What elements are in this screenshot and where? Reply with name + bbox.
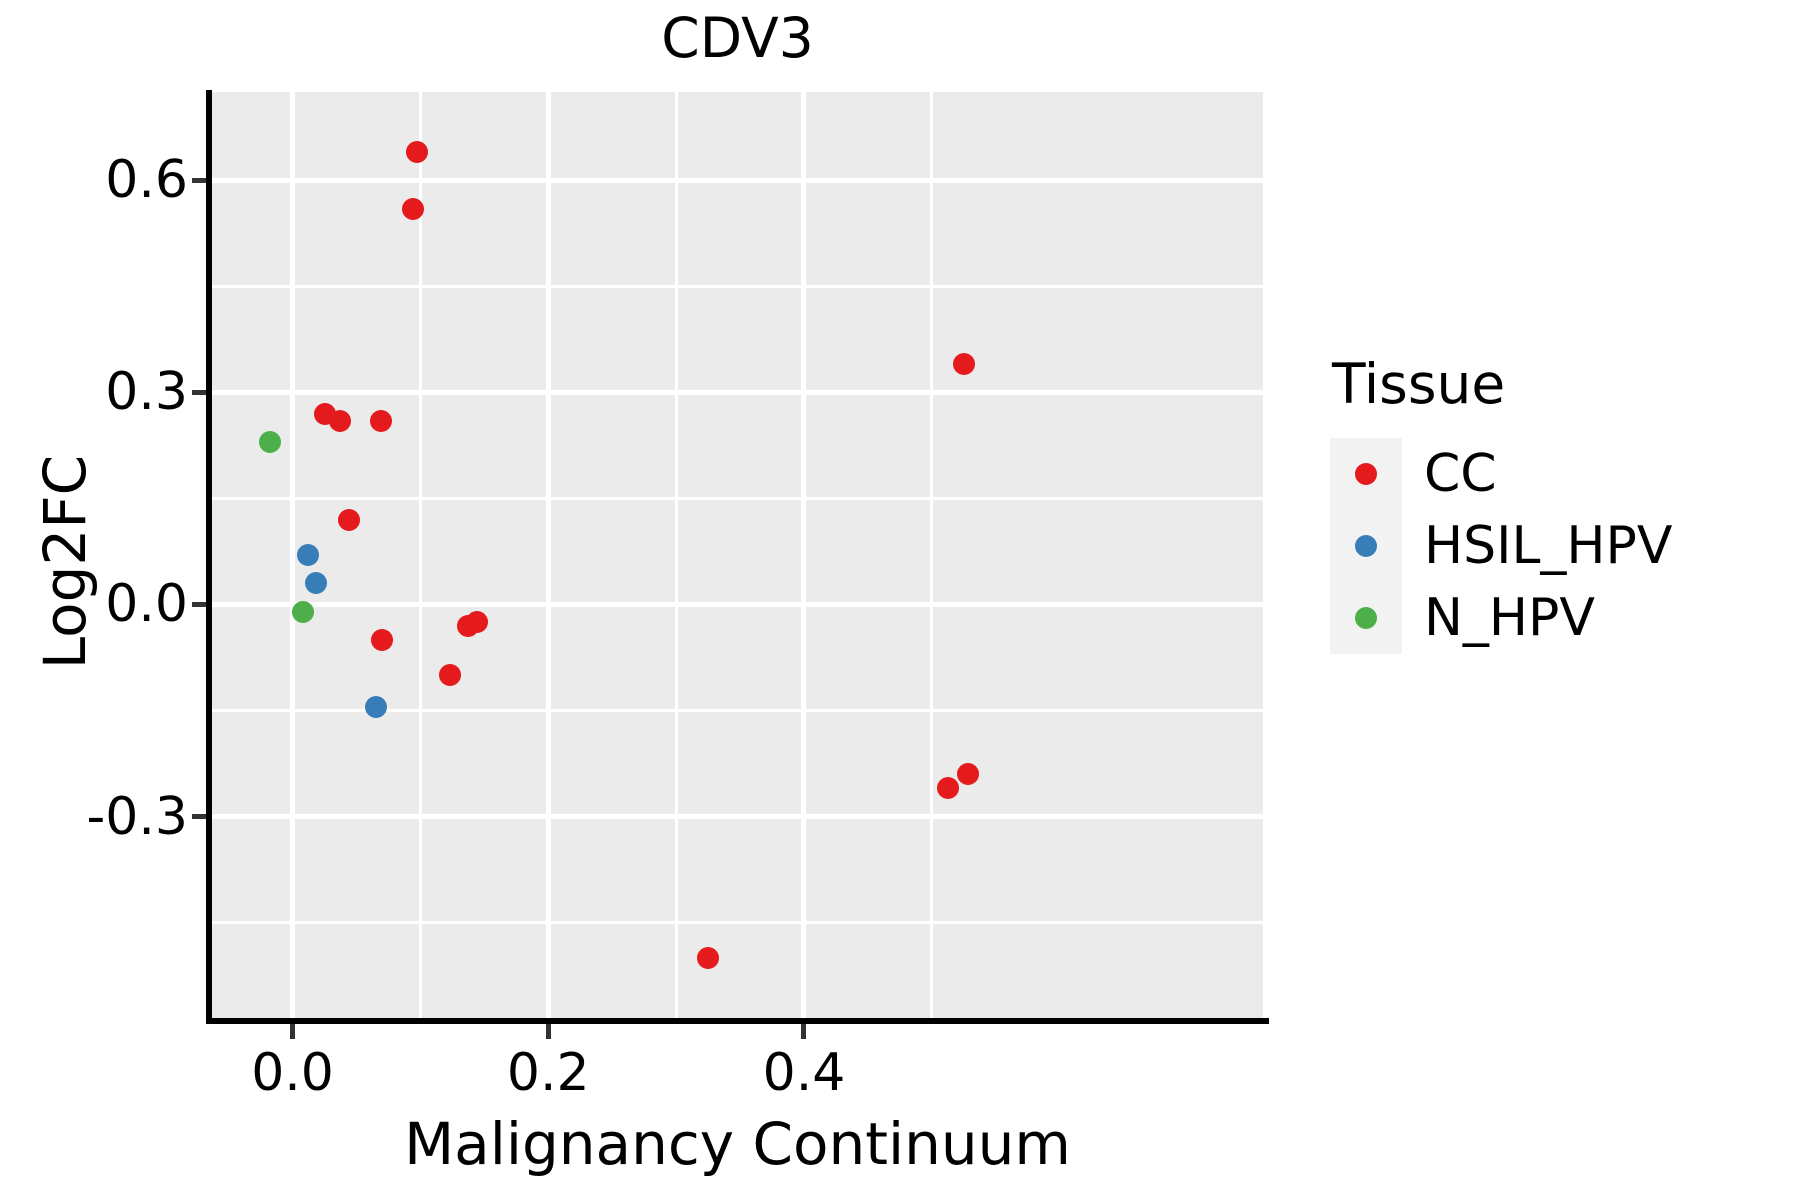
gridline-horizontal-minor: [212, 497, 1263, 500]
gridline-vertical-major: [546, 92, 551, 1018]
legend-title: Tissue: [1332, 352, 1672, 416]
data-point: [439, 664, 461, 686]
data-point: [697, 947, 719, 969]
data-point: [297, 544, 319, 566]
data-point: [338, 509, 360, 531]
data-point: [259, 431, 281, 453]
page-title: CDV3: [212, 6, 1263, 70]
data-point: [292, 601, 314, 623]
y-axis-line: [206, 90, 212, 1022]
legend-entries: CCHSIL_HPVN_HPV: [1330, 438, 1672, 654]
data-point: [466, 611, 488, 633]
data-point: [937, 777, 959, 799]
data-point: [957, 763, 979, 785]
legend-item-n-hpv[interactable]: N_HPV: [1330, 582, 1672, 654]
legend-dot-icon: [1355, 607, 1377, 629]
y-axis-tick: [192, 602, 206, 607]
scatter-plot-figure: CDV3 0.00.20.4-0.30.00.30.6 Malignancy C…: [0, 0, 1800, 1200]
plot-panel: [212, 92, 1263, 1018]
x-axis-tick: [546, 1024, 551, 1039]
gridline-horizontal-major: [212, 390, 1263, 395]
gridline-horizontal-minor: [212, 921, 1263, 924]
data-point: [329, 410, 351, 432]
legend-dot-icon: [1355, 463, 1377, 485]
gridline-vertical-major: [801, 92, 806, 1018]
x-axis-tick: [290, 1024, 295, 1039]
legend-item-cc[interactable]: CC: [1330, 438, 1672, 510]
data-point: [402, 198, 424, 220]
y-axis-tick-label: 0.3: [105, 366, 188, 418]
legend-item-label: N_HPV: [1424, 588, 1595, 648]
gridline-vertical-major: [290, 92, 295, 1018]
x-axis-tick-label: 0.2: [507, 1045, 590, 1101]
legend-item-hsil-hpv[interactable]: HSIL_HPV: [1330, 510, 1672, 582]
legend-key-swatch: [1330, 438, 1402, 510]
gridline-horizontal-minor: [212, 285, 1263, 288]
gridline-vertical-minor: [675, 92, 678, 1018]
gridline-vertical-minor: [930, 92, 933, 1018]
legend: Tissue CCHSIL_HPVN_HPV: [1330, 352, 1672, 654]
data-point: [365, 696, 387, 718]
gridline-horizontal-major: [212, 178, 1263, 183]
y-axis-tick-label: 0.6: [105, 154, 188, 206]
x-axis-tick: [801, 1024, 806, 1039]
data-point: [305, 572, 327, 594]
legend-item-label: HSIL_HPV: [1424, 516, 1672, 576]
y-axis-tick-label: 0.0: [105, 578, 188, 630]
data-point: [371, 629, 393, 651]
legend-item-label: CC: [1424, 444, 1497, 504]
data-point: [953, 353, 975, 375]
y-axis-title: Log2FC: [31, 97, 99, 1027]
x-axis-line: [206, 1018, 1269, 1024]
gridline-horizontal-major: [212, 602, 1263, 607]
gridline-horizontal-major: [212, 814, 1263, 819]
x-axis-title: Malignancy Continuum: [212, 1110, 1263, 1178]
x-axis-tick-label: 0.0: [251, 1045, 334, 1101]
gridline-vertical-minor: [419, 92, 422, 1018]
legend-key-swatch: [1330, 510, 1402, 582]
x-axis-tick-label: 0.4: [763, 1045, 846, 1101]
y-axis-tick: [192, 178, 206, 183]
data-point: [406, 141, 428, 163]
y-axis-tick: [192, 390, 206, 395]
legend-key-swatch: [1330, 582, 1402, 654]
y-axis-tick: [192, 814, 206, 819]
data-point: [370, 410, 392, 432]
y-axis-tick-label: -0.3: [87, 791, 188, 843]
legend-dot-icon: [1355, 535, 1377, 557]
